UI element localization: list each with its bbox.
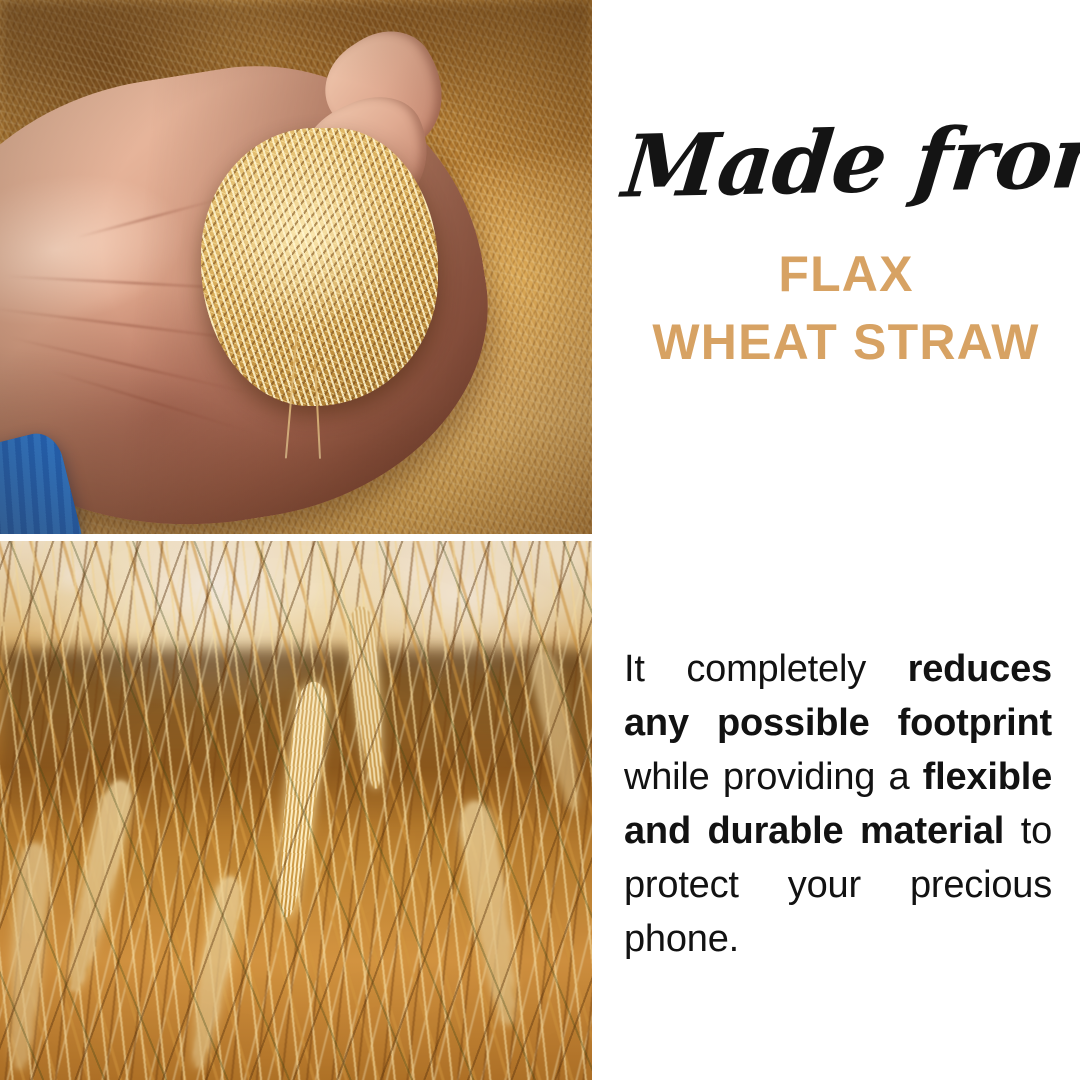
field-photo-inner [0,541,592,1080]
golden-grass-field-photo [0,541,592,1080]
headline-block: Made from FLAX WHEAT STRAW [624,120,1068,376]
photo-vignette [0,0,592,534]
text-column: Made from FLAX WHEAT STRAW It completely… [592,0,1080,1080]
material-subtitle: FLAX WHEAT STRAW [624,240,1068,376]
body-plain: It completely [624,648,908,690]
subtitle-line-wheat-straw: WHEAT STRAW [624,308,1068,376]
script-headline: Made from [619,115,1073,210]
hand-holding-chaff-photo [0,0,592,534]
body-paragraph: It completely reduces any possible footp… [624,642,1052,966]
body-plain: while providing a [624,756,923,798]
hand-photo-inner [0,0,592,534]
subtitle-line-flax: FLAX [624,240,1068,308]
body-block: It completely reduces any possible footp… [624,642,1052,966]
poster-canvas: Made from FLAX WHEAT STRAW It completely… [0,0,1080,1080]
warm-colour-overlay [0,541,592,1080]
image-column [0,0,592,1080]
